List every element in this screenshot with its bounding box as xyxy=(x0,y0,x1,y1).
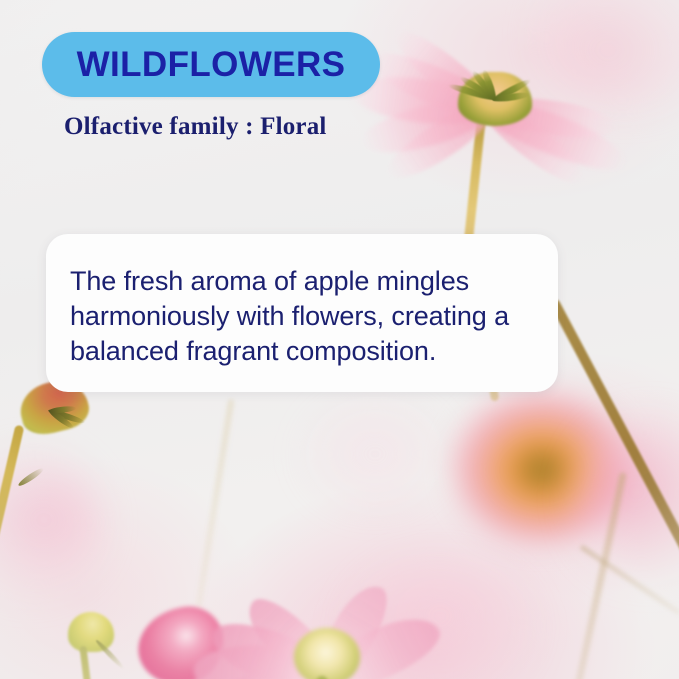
olfactive-family-label: Olfactive family : Floral xyxy=(64,113,327,141)
description-card: The fresh aroma of apple mingles harmoni… xyxy=(46,234,558,392)
description-text: The fresh aroma of apple mingles harmoni… xyxy=(70,264,540,369)
category-badge: WILDFLOWERS xyxy=(42,32,380,97)
category-badge-label: WILDFLOWERS xyxy=(77,47,346,82)
product-fragrance-card: WILDFLOWERS Olfactive family : Floral Th… xyxy=(0,0,679,679)
